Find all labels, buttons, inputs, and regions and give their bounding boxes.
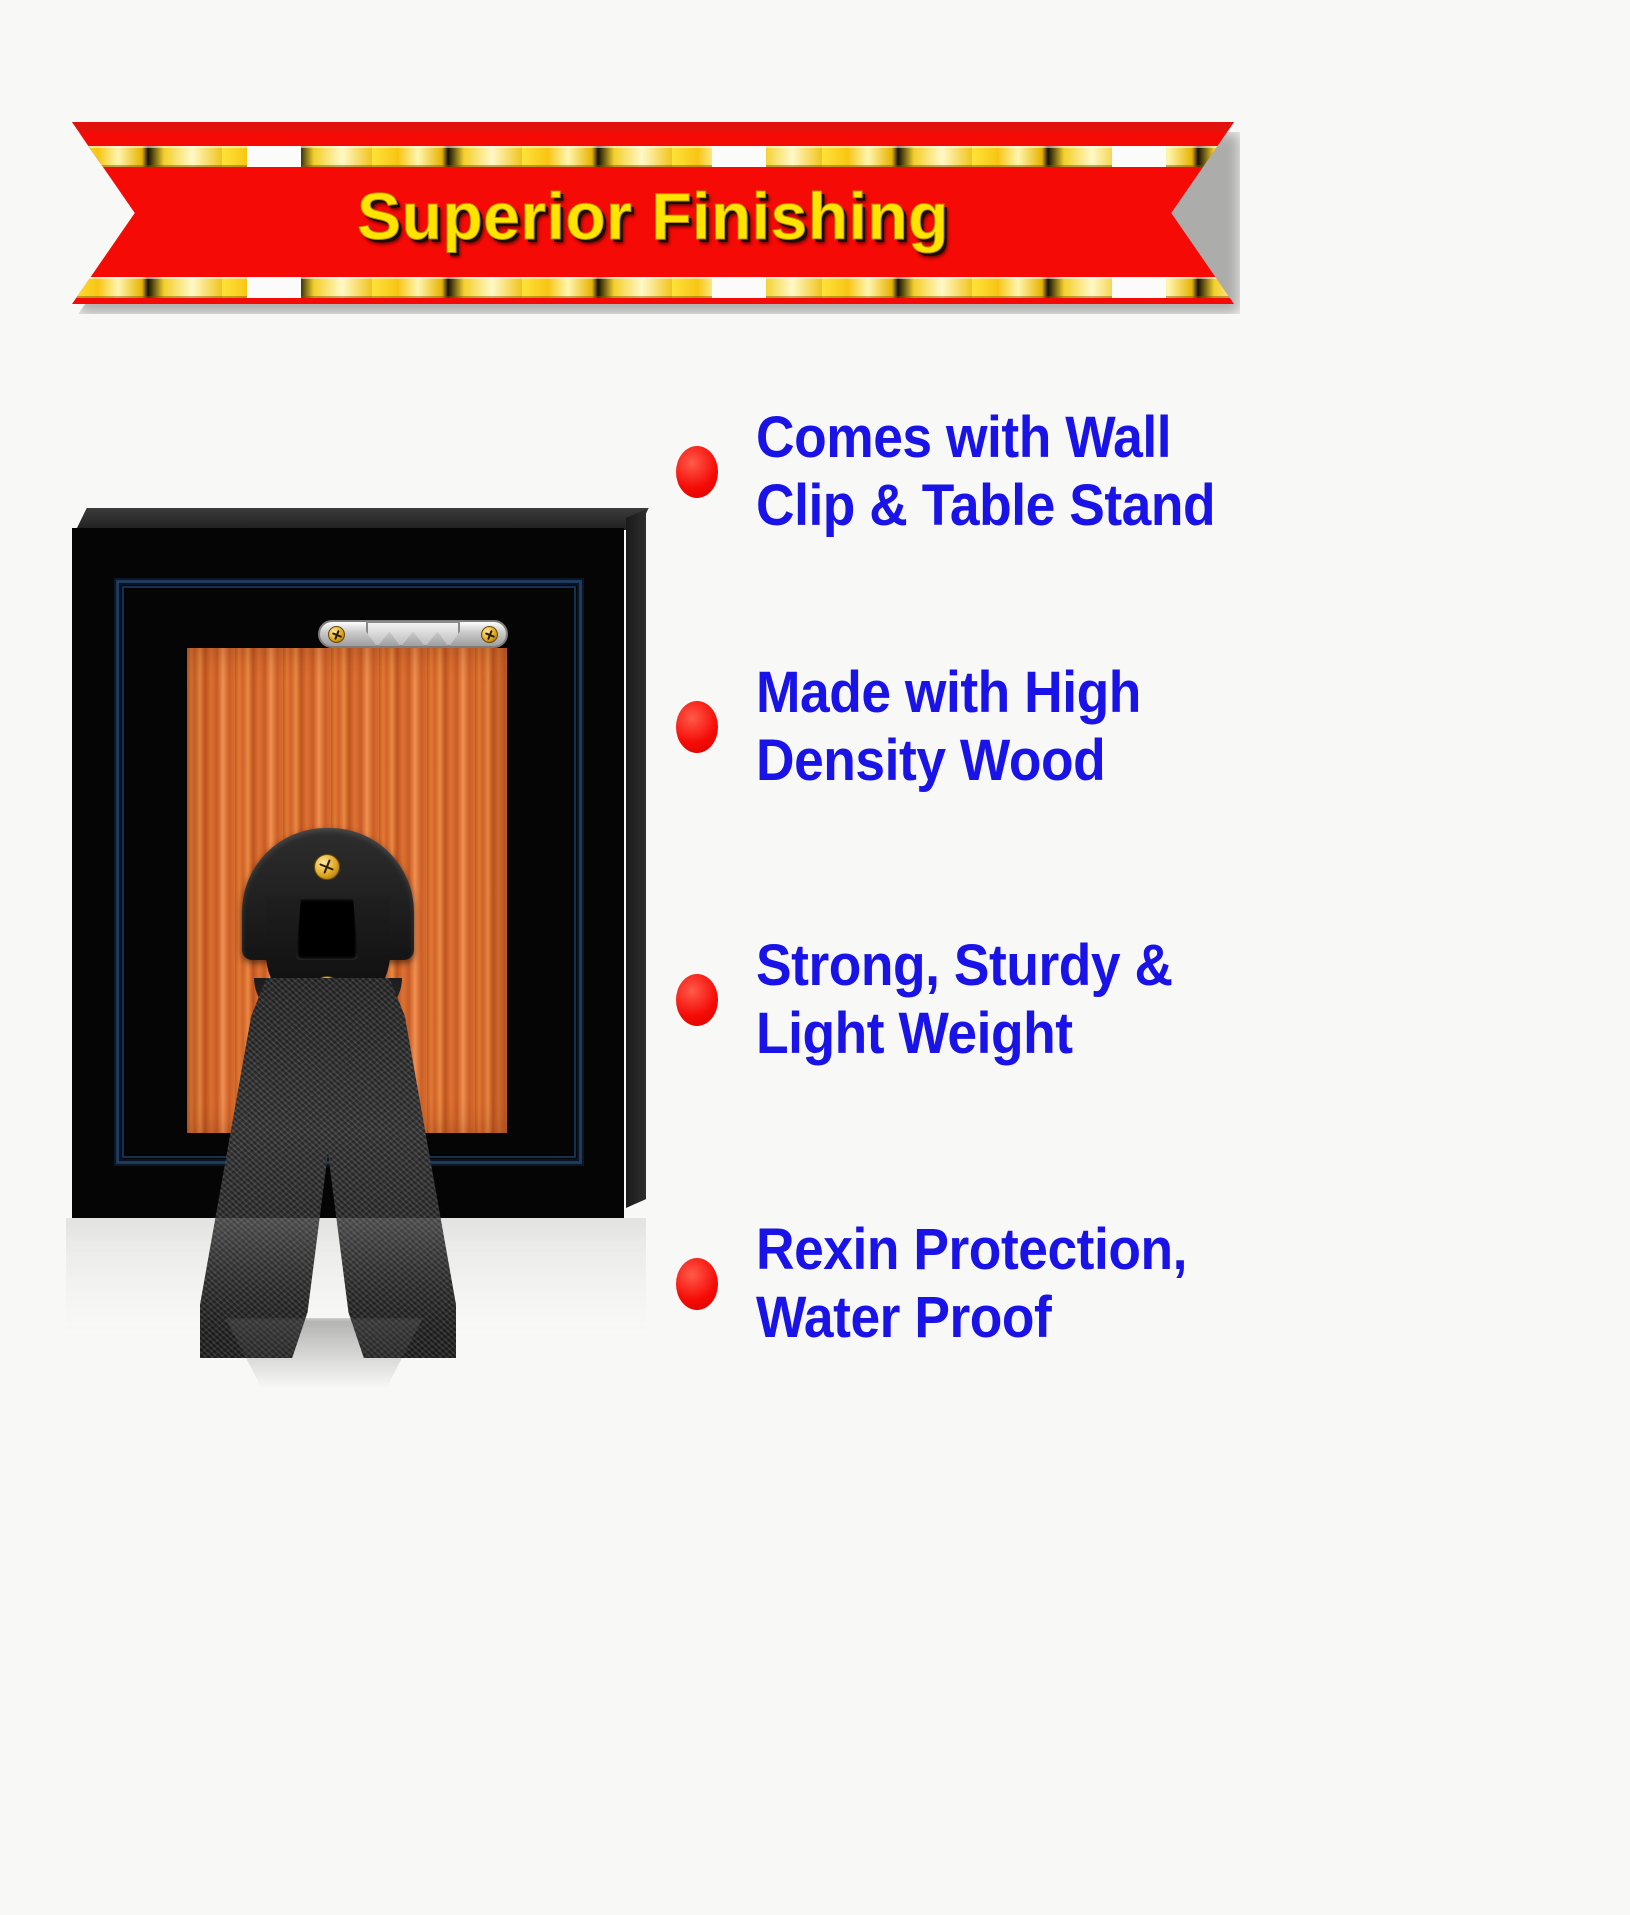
- plaque-face: [72, 528, 624, 1218]
- stand-slot: [296, 898, 358, 960]
- banner-ribbon: Superior Finishing: [72, 122, 1234, 304]
- infographic-page: Superior Finishing: [0, 0, 1630, 1915]
- plaque-right-edge: [626, 509, 646, 1208]
- list-item: Strong, Sturdy & Light Weight: [676, 932, 1576, 1069]
- plaque-top-edge: [76, 508, 649, 530]
- screw-icon: [314, 854, 340, 880]
- banner: Superior Finishing: [72, 122, 1234, 304]
- feature-label: Strong, Sturdy & Light Weight: [756, 932, 1173, 1069]
- bullet-dot-icon: [676, 1258, 718, 1310]
- bullet-dot-icon: [676, 974, 718, 1026]
- bullet-dot-icon: [676, 701, 718, 753]
- list-item: Rexin Protection, Water Proof: [676, 1216, 1576, 1353]
- feature-label: Made with High Density Wood: [756, 659, 1141, 796]
- screw-icon: [328, 626, 345, 643]
- list-item: Comes with Wall Clip & Table Stand: [676, 404, 1576, 541]
- banner-title: Superior Finishing: [72, 122, 1234, 304]
- feature-label: Comes with Wall Clip & Table Stand: [756, 404, 1215, 541]
- feature-label: Rexin Protection, Water Proof: [756, 1216, 1187, 1353]
- screw-icon: [481, 626, 498, 643]
- sawtooth-hanger-icon: [318, 618, 508, 650]
- bullet-dot-icon: [676, 446, 718, 498]
- list-item: Made with High Density Wood: [676, 659, 1576, 796]
